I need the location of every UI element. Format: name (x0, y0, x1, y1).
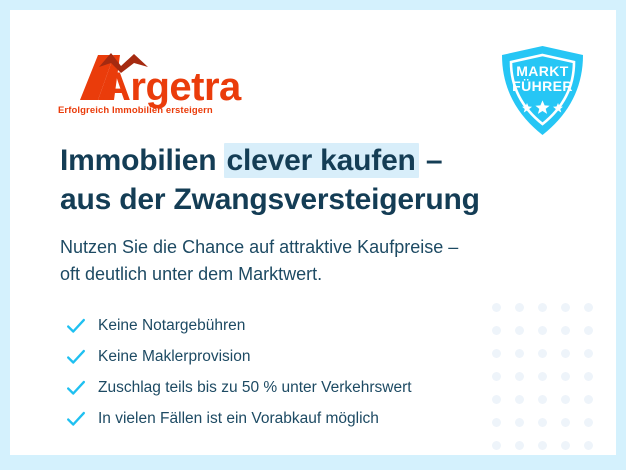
list-item: In vielen Fällen ist ein Vorabkauf mögli… (65, 403, 565, 434)
list-item: Keine Maklerprovision (65, 341, 565, 372)
headline-part-1: Immobilien (60, 144, 225, 177)
list-item-label: Zuschlag teils bis zu 50 % unter Verkehr… (98, 378, 412, 397)
logo-tagline-text: Erfolgreich Immobilien ersteigern (58, 105, 213, 115)
check-icon (65, 377, 87, 399)
decorative-dot (492, 441, 501, 450)
list-item: Zuschlag teils bis zu 50 % unter Verkehr… (65, 372, 565, 403)
benefit-list: Keine Notargebühren Keine Maklerprovisio… (65, 310, 565, 434)
decorative-dot (515, 441, 524, 450)
poster-card: Argetra Erfolgreich Immobilien ersteiger… (10, 10, 616, 455)
subheadline-line-2: oft deutlich unter dem Marktwert. (60, 261, 580, 288)
decorative-dot (584, 303, 593, 312)
decorative-dot (584, 441, 593, 450)
headline-highlight: clever kaufen (224, 143, 419, 178)
decorative-dot (584, 326, 593, 335)
decorative-dot (584, 395, 593, 404)
marktfuehrer-badge: MARKT FÜHRER (495, 43, 590, 138)
list-item-label: In vielen Fällen ist ein Vorabkauf mögli… (98, 409, 379, 428)
list-item: Keine Notargebühren (65, 310, 565, 341)
headline: Immobilien clever kaufen – aus der Zwang… (60, 141, 580, 219)
decorative-dot (584, 372, 593, 381)
decorative-dot (584, 418, 593, 427)
check-icon (65, 346, 87, 368)
check-icon (65, 315, 87, 337)
headline-line-2: aus der Zwangsversteigerung (60, 180, 580, 219)
poster-frame: Argetra Erfolgreich Immobilien ersteiger… (0, 0, 626, 470)
headline-line-1: Immobilien clever kaufen – (60, 141, 580, 180)
subheadline: Nutzen Sie die Chance auf attraktive Kau… (60, 234, 580, 288)
list-item-label: Keine Notargebühren (98, 316, 245, 335)
decorative-dot (561, 441, 570, 450)
decorative-dot (584, 349, 593, 358)
decorative-dot (538, 441, 547, 450)
check-icon (65, 408, 87, 430)
headline-part-2: – (418, 144, 443, 177)
list-item-label: Keine Maklerprovision (98, 347, 251, 366)
subheadline-line-1: Nutzen Sie die Chance auf attraktive Kau… (60, 234, 580, 261)
shield-icon (502, 46, 583, 135)
svg-text:Argetra: Argetra (102, 65, 242, 109)
argetra-logo: Argetra Erfolgreich Immobilien ersteiger… (58, 53, 258, 115)
